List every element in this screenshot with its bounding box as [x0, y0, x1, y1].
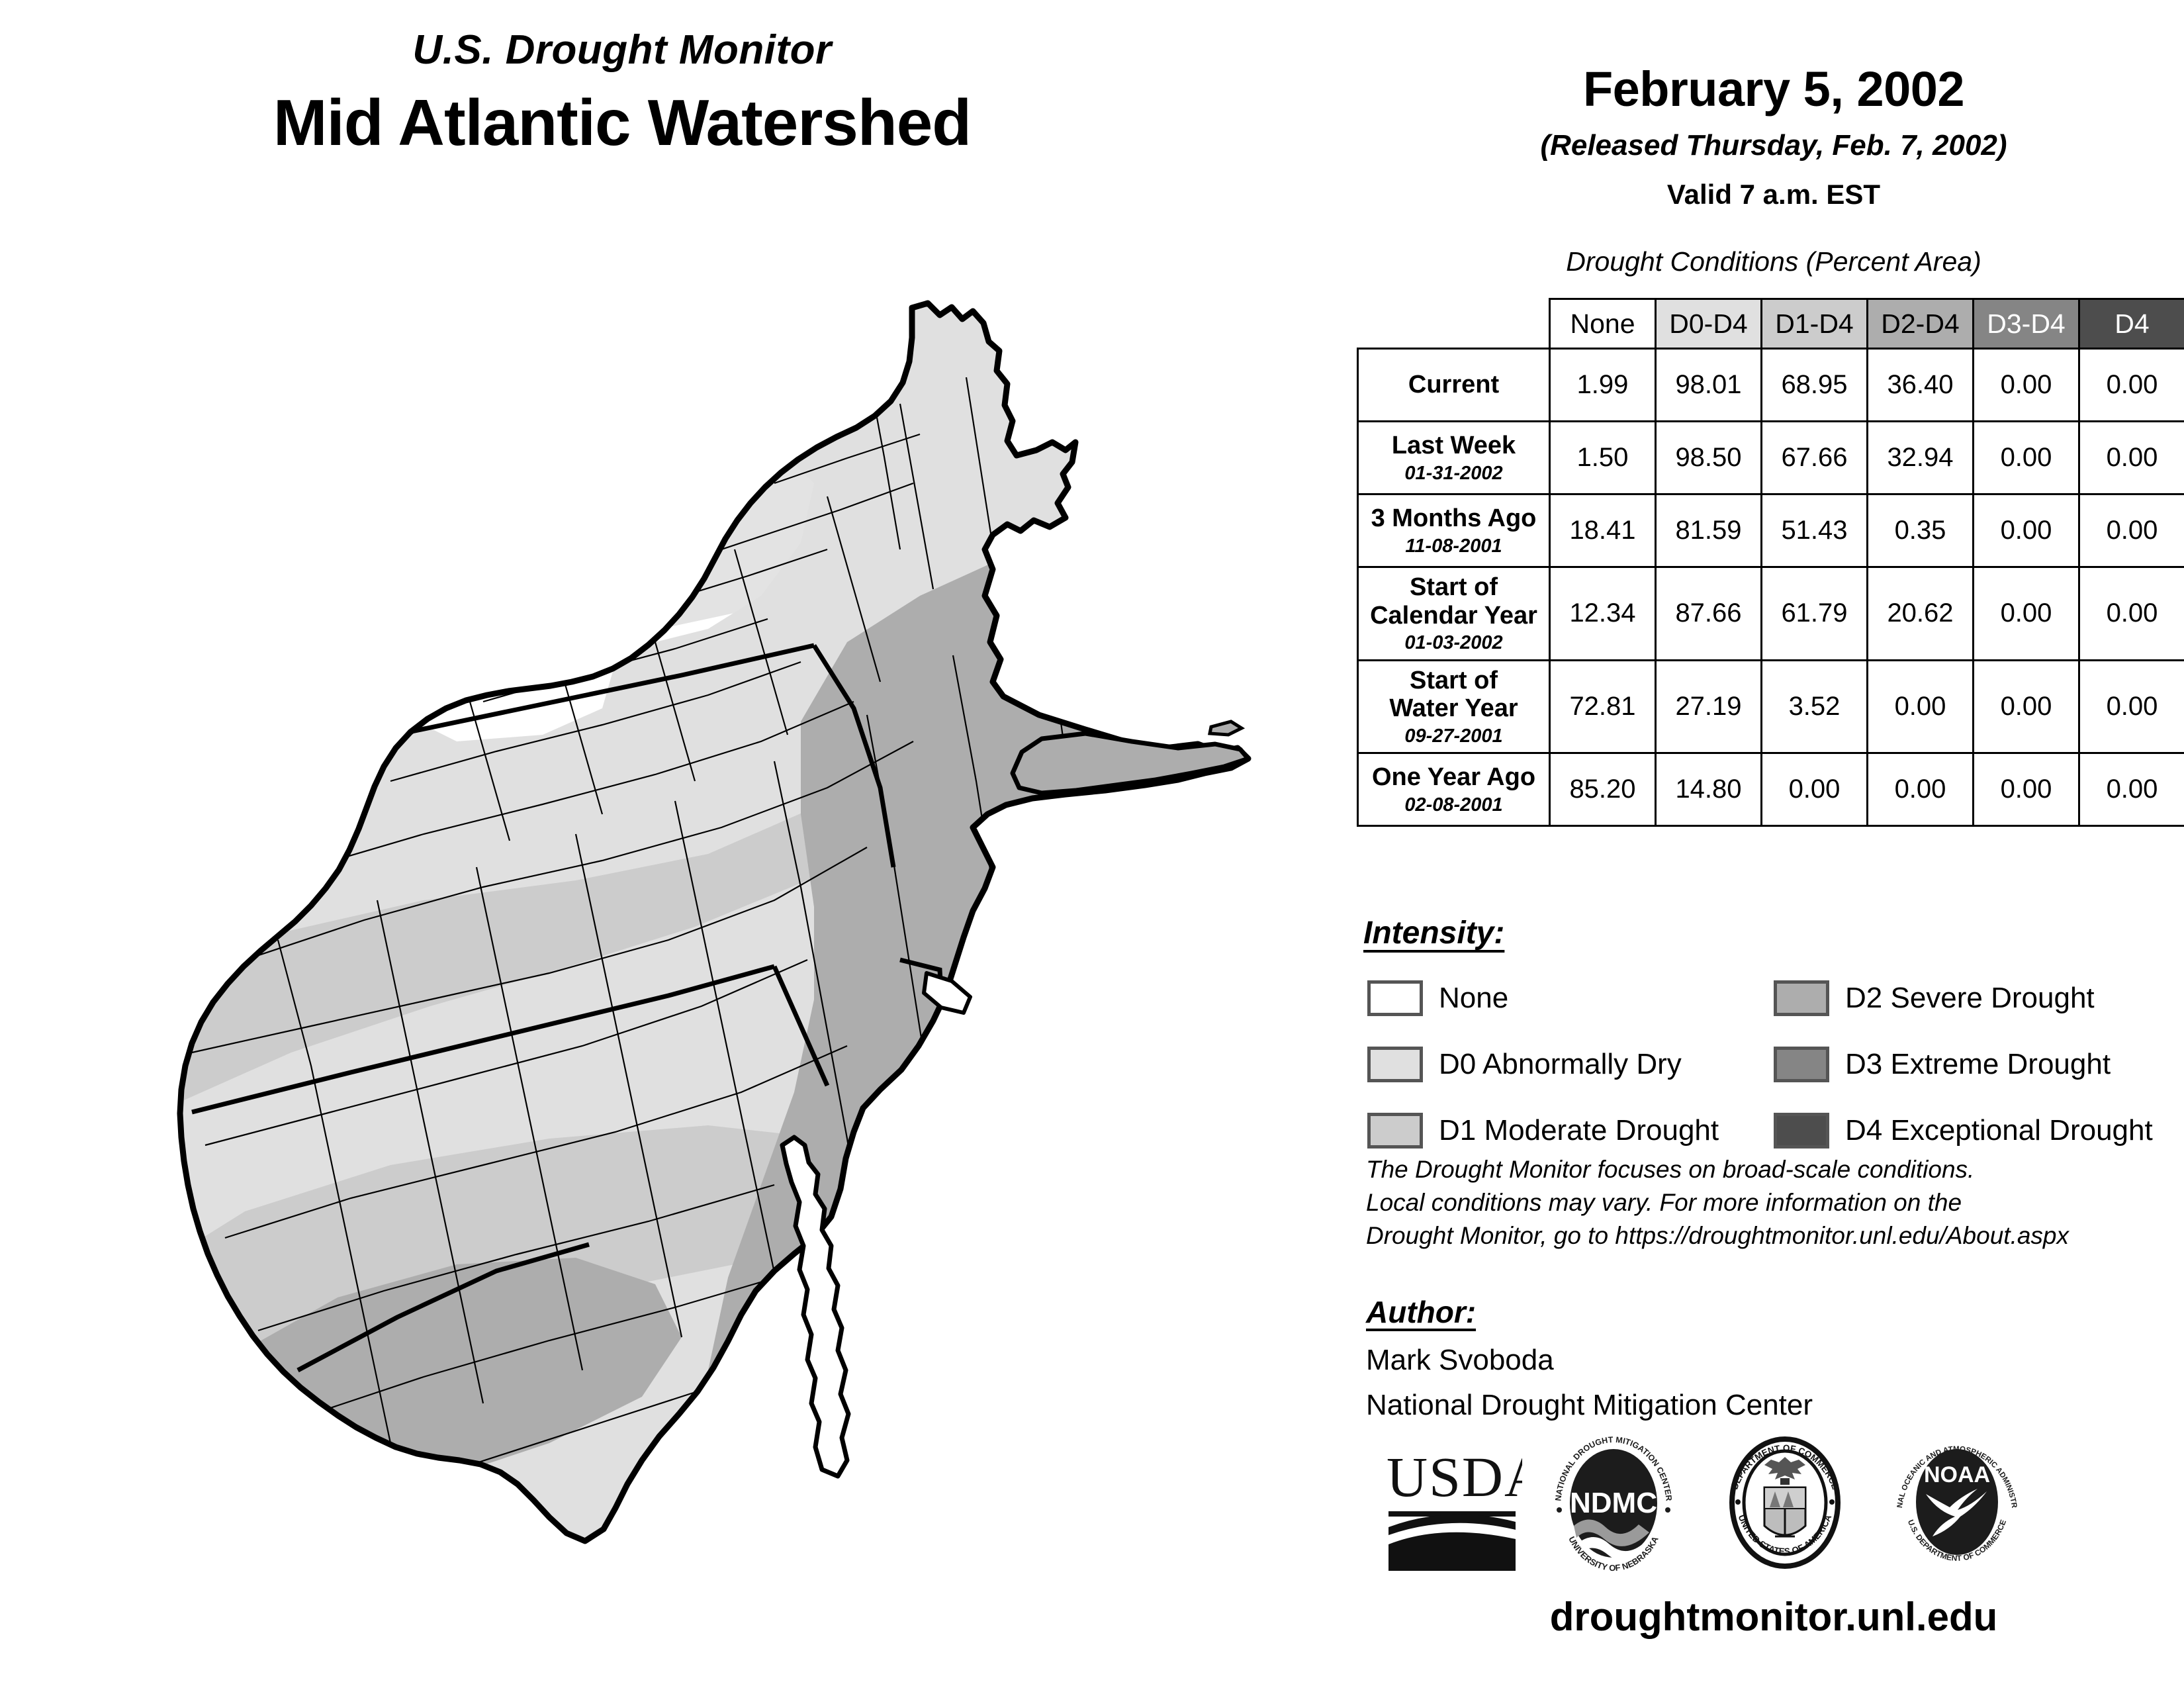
usda-logo: USDA: [1383, 1433, 1522, 1575]
cell-d0-d4: 27.19: [1656, 660, 1762, 753]
row-label: Start ofWater Year09-27-2001: [1358, 660, 1550, 753]
drought-conditions-table: NoneD0-D4D1-D4D2-D4D3-D4D4 Current1.9998…: [1357, 298, 2184, 827]
cell-d0-d4: 98.50: [1656, 422, 1762, 494]
disclaimer-line-3: Drought Monitor, go to https://droughtmo…: [1366, 1219, 2069, 1252]
table-header-row: NoneD0-D4D1-D4D2-D4D3-D4D4: [1358, 299, 2184, 349]
row-label: Current: [1358, 349, 1550, 422]
cell-d4: 0.00: [2079, 753, 2184, 826]
row-date: 09-27-2001: [1361, 726, 1546, 747]
cell-d2-d4: 20.62: [1868, 567, 1974, 661]
cell-d2-d4: 32.94: [1868, 422, 1974, 494]
legend-label: None: [1439, 982, 1508, 1015]
table-header-none: None: [1550, 299, 1656, 349]
disclaimer-line-2: Local conditions may vary. For more info…: [1366, 1186, 2069, 1219]
legend-column-right: D2 Severe DroughtD3 Extreme DroughtD4 Ex…: [1774, 973, 2153, 1172]
legend-swatch: [1774, 980, 1829, 1016]
logo-row: USDA NDMC NATIONAL DROUGHT MITIGATION CE…: [1363, 1433, 2184, 1585]
cell-none: 85.20: [1550, 753, 1656, 826]
cell-d1-d4: 3.52: [1762, 660, 1868, 753]
table-row: 3 Months Ago11-08-200118.4181.5951.430.3…: [1358, 494, 2184, 567]
cell-none: 1.50: [1550, 422, 1656, 494]
legend-item: D4 Exceptional Drought: [1774, 1105, 2153, 1155]
footer-url[interactable]: droughtmonitor.unl.edu: [1363, 1594, 2184, 1640]
cell-d4: 0.00: [2079, 422, 2184, 494]
report-date: February 5, 2002: [1363, 61, 2184, 117]
department-of-commerce-seal: DEPARTMENT OF COMMERCE UNITED STATES OF …: [1714, 1433, 1856, 1575]
conditions-table-caption: Drought Conditions (Percent Area): [1363, 246, 2184, 277]
cell-d2-d4: 36.40: [1868, 349, 1974, 422]
legend-swatch: [1367, 1113, 1423, 1149]
disclaimer-line-1: The Drought Monitor focuses on broad-sca…: [1366, 1153, 2069, 1186]
cell-d3-d4: 0.00: [1974, 422, 2079, 494]
table-body: Current1.9998.0168.9536.400.000.00Last W…: [1358, 349, 2184, 826]
table-row: Start ofWater Year09-27-200172.8127.193.…: [1358, 660, 2184, 753]
intensity-heading: Intensity:: [1363, 915, 1504, 951]
ndmc-logo: NDMC NATIONAL DROUGHT MITIGATION CENTER …: [1542, 1433, 1684, 1575]
row-date: 02-08-2001: [1361, 794, 1546, 816]
drought-map-svg[interactable]: [113, 285, 1324, 1556]
cell-d2-d4: 0.00: [1868, 660, 1974, 753]
table-corner-cell: [1358, 299, 1550, 349]
row-date: 11-08-2001: [1361, 536, 1546, 557]
cell-d1-d4: 68.95: [1762, 349, 1868, 422]
page-eyebrow-title: U.S. Drought Monitor: [0, 26, 1244, 73]
noaa-logo: NOAA NATIONAL OCEANIC AND ATMOSPHERIC AD…: [1886, 1433, 2028, 1575]
svg-text:NOAA: NOAA: [1924, 1462, 1990, 1487]
cell-d2-d4: 0.00: [1868, 753, 1974, 826]
legend-label: D4 Exceptional Drought: [1845, 1114, 2153, 1147]
table-row: Start ofCalendar Year01-03-200212.3487.6…: [1358, 567, 2184, 661]
cell-d0-d4: 14.80: [1656, 753, 1762, 826]
cell-none: 72.81: [1550, 660, 1656, 753]
table-row: Current1.9998.0168.9536.400.000.00: [1358, 349, 2184, 422]
cell-d3-d4: 0.00: [1974, 349, 2079, 422]
legend-column-left: NoneD0 Abnormally DryD1 Moderate Drought: [1367, 973, 1719, 1172]
cell-d2-d4: 0.35: [1868, 494, 1974, 567]
row-label: One Year Ago02-08-2001: [1358, 753, 1550, 826]
table-header-d3-d4: D3-D4: [1974, 299, 2079, 349]
svg-text:NDMC: NDMC: [1570, 1487, 1657, 1519]
legend-label: D0 Abnormally Dry: [1439, 1048, 1682, 1081]
legend-label: D3 Extreme Drought: [1845, 1048, 2111, 1081]
row-date: 01-03-2002: [1361, 632, 1546, 653]
cell-none: 18.41: [1550, 494, 1656, 567]
author-organization: National Drought Mitigation Center: [1366, 1389, 1813, 1422]
legend-swatch: [1774, 1113, 1829, 1149]
cell-d0-d4: 81.59: [1656, 494, 1762, 567]
cell-none: 12.34: [1550, 567, 1656, 661]
cell-d0-d4: 87.66: [1656, 567, 1762, 661]
table-header-d1-d4: D1-D4: [1762, 299, 1868, 349]
cell-d4: 0.00: [2079, 494, 2184, 567]
table-header-d2-d4: D2-D4: [1868, 299, 1974, 349]
cell-d3-d4: 0.00: [1974, 753, 2079, 826]
legend-item: D3 Extreme Drought: [1774, 1039, 2153, 1089]
cell-d3-d4: 0.00: [1974, 660, 2079, 753]
legend-item: D2 Severe Drought: [1774, 973, 2153, 1023]
legend-label: D2 Severe Drought: [1845, 982, 2095, 1015]
cell-d3-d4: 0.00: [1974, 494, 2079, 567]
right-column: February 5, 2002 (Released Thursday, Feb…: [1363, 0, 2184, 1688]
cell-d0-d4: 98.01: [1656, 349, 1762, 422]
table-row: One Year Ago02-08-200185.2014.800.000.00…: [1358, 753, 2184, 826]
cell-d1-d4: 61.79: [1762, 567, 1868, 661]
cell-d4: 0.00: [2079, 567, 2184, 661]
table-header-d4: D4: [2079, 299, 2184, 349]
legend-item: D1 Moderate Drought: [1367, 1105, 1719, 1155]
author-heading: Author:: [1366, 1294, 1476, 1330]
legend-label: D1 Moderate Drought: [1439, 1114, 1719, 1147]
cell-d1-d4: 51.43: [1762, 494, 1868, 567]
author-name: Mark Svoboda: [1366, 1344, 1554, 1377]
left-title-block: U.S. Drought Monitor Mid Atlantic Waters…: [0, 26, 1244, 160]
cell-d1-d4: 0.00: [1762, 753, 1868, 826]
release-date: (Released Thursday, Feb. 7, 2002): [1363, 129, 2184, 162]
cell-d3-d4: 0.00: [1974, 567, 2079, 661]
row-date: 01-31-2002: [1361, 463, 1546, 484]
drought-map[interactable]: [113, 285, 1324, 1556]
row-label: Last Week01-31-2002: [1358, 422, 1550, 494]
cell-d4: 0.00: [2079, 349, 2184, 422]
row-label: Start ofCalendar Year01-03-2002: [1358, 567, 1550, 661]
valid-time: Valid 7 a.m. EST: [1363, 179, 2184, 211]
cell-d4: 0.00: [2079, 660, 2184, 753]
cell-none: 1.99: [1550, 349, 1656, 422]
legend-item: None: [1367, 973, 1719, 1023]
legend-swatch: [1774, 1047, 1829, 1082]
legend-swatch: [1367, 980, 1423, 1016]
svg-text:USDA: USDA: [1387, 1445, 1522, 1509]
disclaimer-text: The Drought Monitor focuses on broad-sca…: [1366, 1153, 2069, 1252]
table-row: Last Week01-31-20021.5098.5067.6632.940.…: [1358, 422, 2184, 494]
table-header-d0-d4: D0-D4: [1656, 299, 1762, 349]
legend-item: D0 Abnormally Dry: [1367, 1039, 1719, 1089]
cell-d1-d4: 67.66: [1762, 422, 1868, 494]
legend-swatch: [1367, 1047, 1423, 1082]
row-label: 3 Months Ago11-08-2001: [1358, 494, 1550, 567]
page-title: Mid Atlantic Watershed: [0, 85, 1244, 160]
